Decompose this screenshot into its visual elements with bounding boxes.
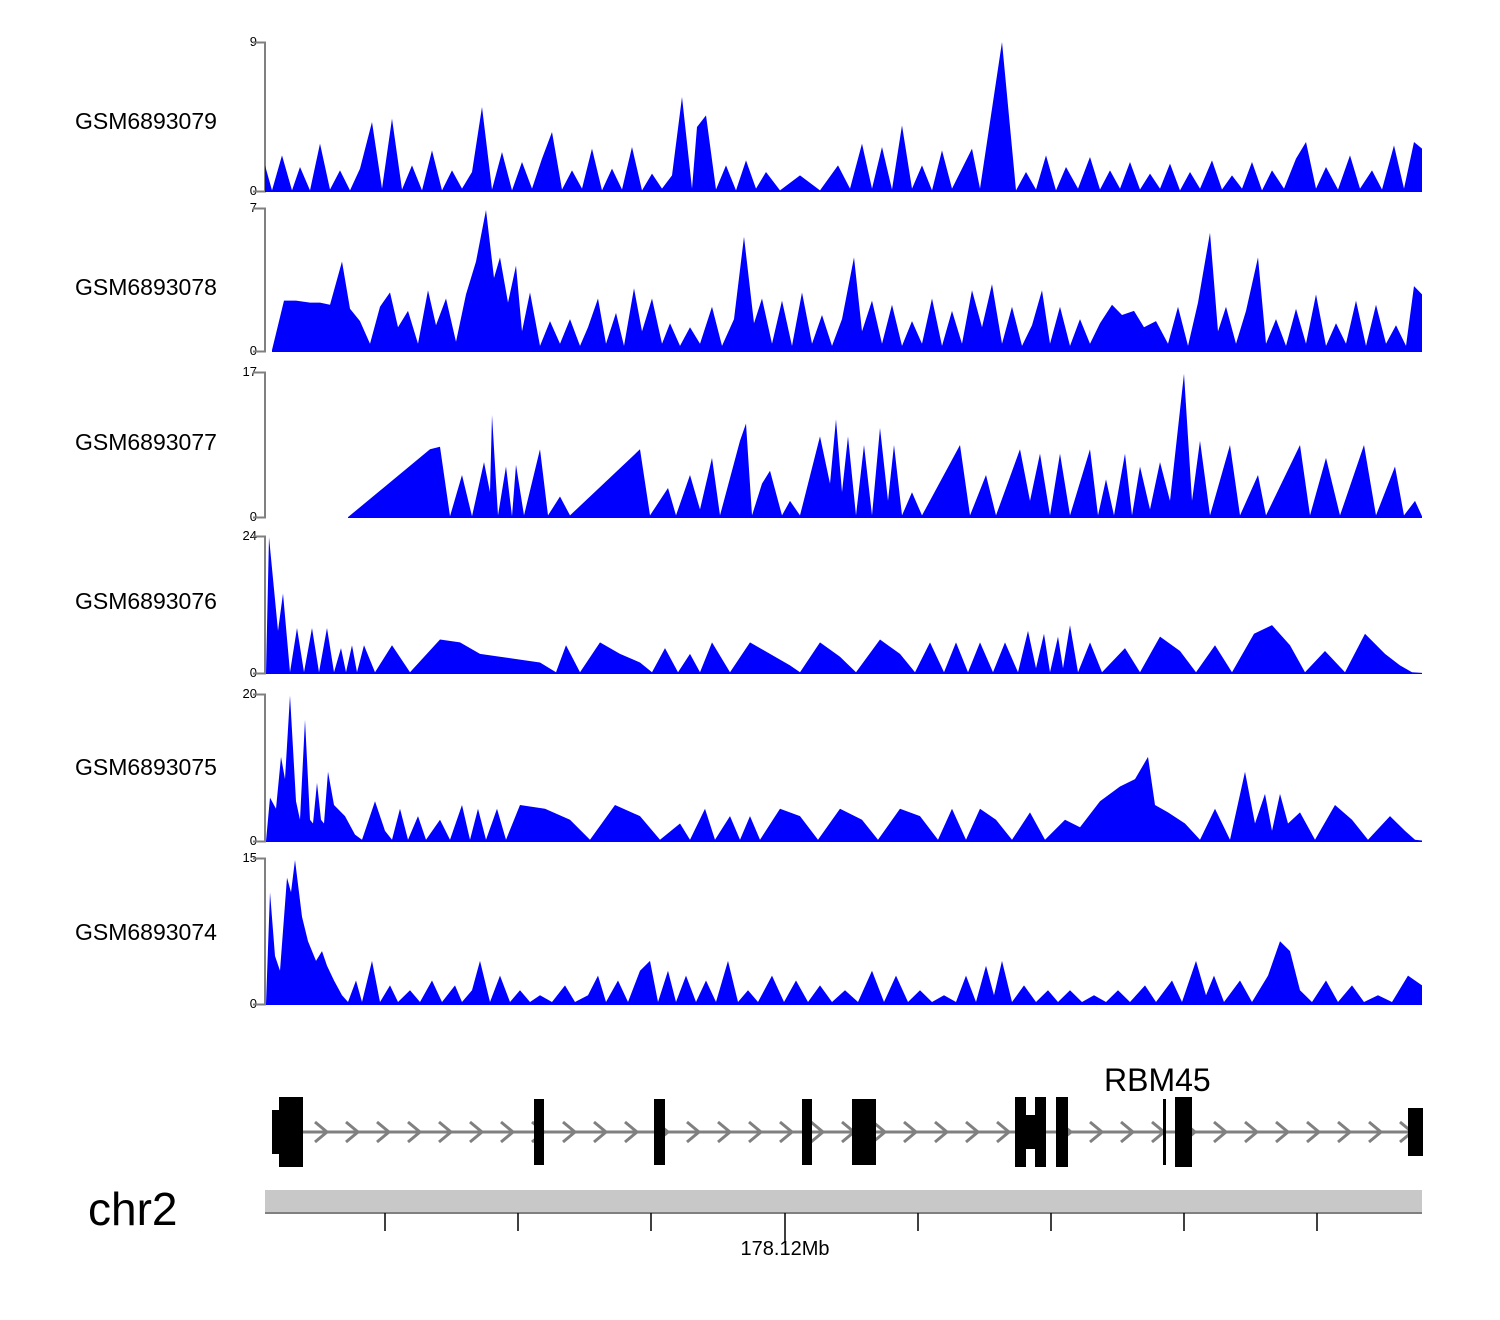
genome-browser-figure: GSM689307990GSM689307870GSM6893077170GSM… — [0, 0, 1500, 1320]
coverage-plot-GSM6893074 — [0, 856, 1500, 1007]
coverage-plot-GSM6893075 — [0, 692, 1500, 844]
gene-model-svg — [0, 1090, 1500, 1174]
coverage-plot-GSM6893079 — [0, 40, 1500, 194]
coverage-plot-GSM6893078 — [0, 206, 1500, 354]
coverage-plot-GSM6893076 — [0, 534, 1500, 676]
coordinate-tick-label: 178.12Mb — [715, 1238, 855, 1261]
gene-name-label: RBM45 — [1104, 1062, 1211, 1099]
coverage-plot-GSM6893077 — [0, 370, 1500, 520]
